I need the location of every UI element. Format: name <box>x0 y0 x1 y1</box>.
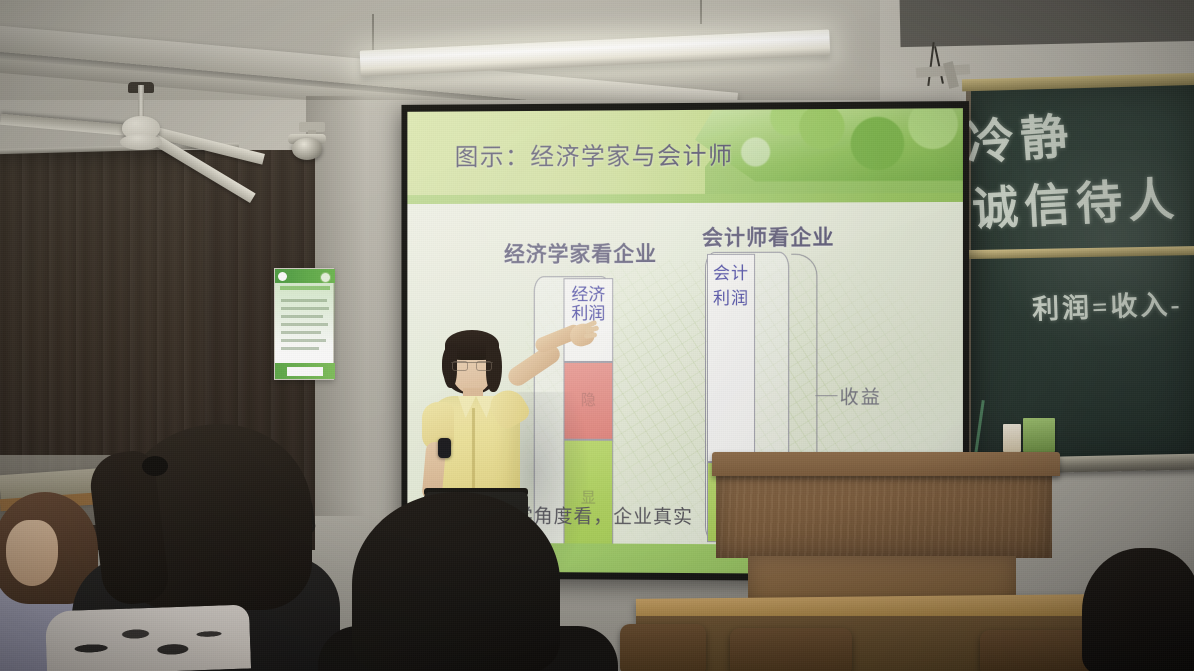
poster-title-bar <box>280 286 330 290</box>
chalk-box <box>1003 424 1021 452</box>
revenue-brace-connector <box>815 395 837 396</box>
poster-header <box>275 269 335 283</box>
chalk-box <box>1023 418 1055 452</box>
student-face <box>6 520 58 586</box>
podium-top <box>712 452 1060 476</box>
instructor-right-upper-arm <box>505 341 564 389</box>
poster-text-line <box>281 331 321 334</box>
instructor-glasses-bridge <box>451 362 493 371</box>
poster-text-line <box>281 299 327 302</box>
blackboard-text-line-2: 诚信待人 <box>970 163 1181 240</box>
poster-text-line <box>281 347 319 350</box>
poster-footer <box>275 363 335 379</box>
revenue-label: 收益 <box>840 382 882 409</box>
podium-body <box>716 472 1052 558</box>
ceiling-fan-hub <box>120 134 162 150</box>
light-hanger <box>700 0 702 24</box>
poster-text-line <box>281 339 326 342</box>
poster-text-line <box>281 315 323 318</box>
ceiling-soffit <box>900 0 1194 47</box>
poster-text-line <box>281 323 328 326</box>
student-hair <box>352 492 560 671</box>
accountant-profit-label: 会计利润 <box>707 262 755 311</box>
slide-title: 图示：经济学家与会计师 <box>455 136 734 172</box>
column-heading-economist: 经济学家看企业 <box>504 238 657 268</box>
wall-notice-poster <box>274 268 334 380</box>
poster-footer-box <box>287 367 323 376</box>
presenter-remote <box>438 438 451 458</box>
student-floral-garment <box>45 604 251 671</box>
classroom-photo: 冷静 诚信待人 利润=收入- 图示：经济学家与会计师 经济学家看企业 会计师看企… <box>0 0 1194 671</box>
instructor-blouse-placket <box>472 408 475 494</box>
student-hair <box>1082 548 1194 671</box>
poster-badge-icon <box>320 272 331 283</box>
dome-camera-icon <box>292 138 322 160</box>
blackboard-formula: 利润=收入- <box>1031 282 1183 326</box>
chair <box>620 624 706 671</box>
chair <box>730 628 852 671</box>
poster-logo-icon <box>278 272 287 281</box>
column-heading-accountant: 会计师看企业 <box>702 221 835 251</box>
economist-profit-label: 经济利润 <box>564 286 614 324</box>
student-hair-tie <box>142 456 168 476</box>
poster-text-line <box>281 307 329 310</box>
blackboard-text-line-1: 冷静 <box>964 96 1077 173</box>
slide-header-underline <box>407 193 963 204</box>
